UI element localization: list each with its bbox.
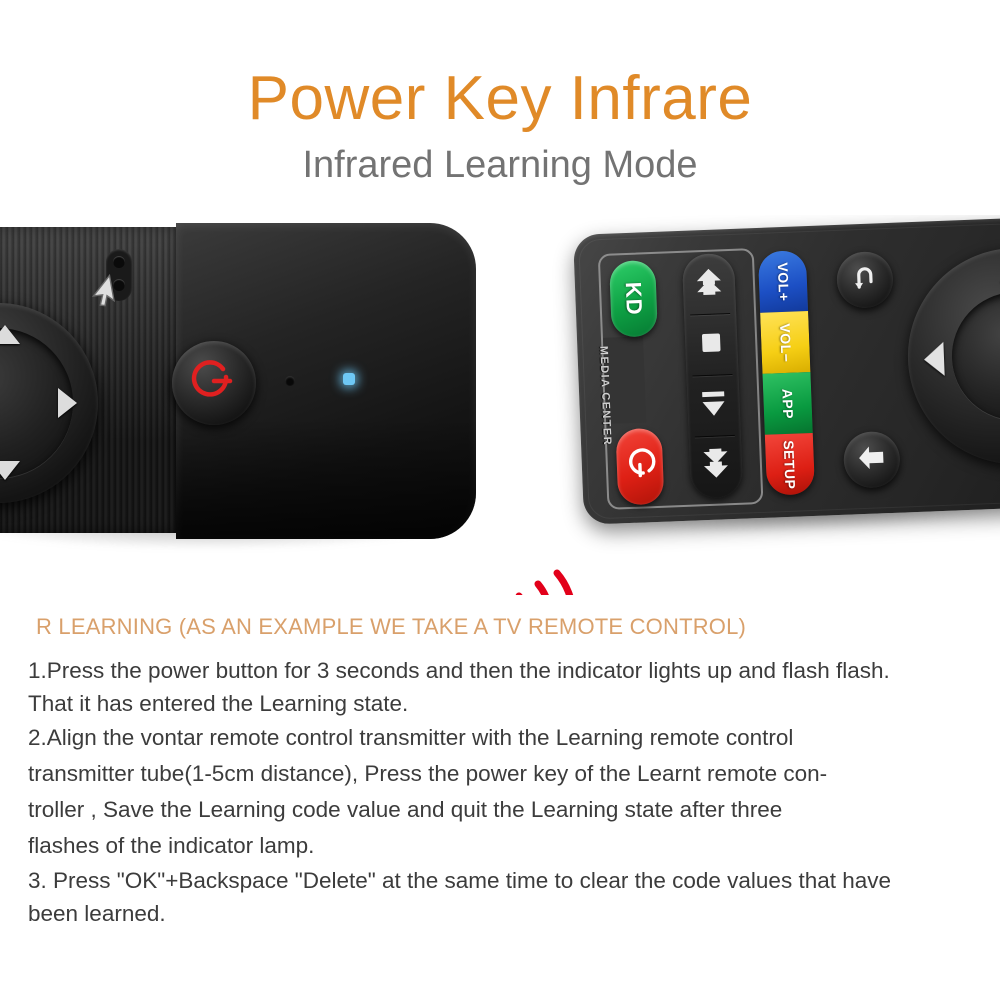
description-line: 2.Align the vontar remote control transm… bbox=[28, 720, 978, 756]
color-button-column: VOL+ VOL− APP SETUP bbox=[758, 250, 815, 496]
volume-up-label: VOL+ bbox=[774, 262, 791, 302]
tv-remote-ok-label: OK bbox=[950, 290, 1000, 423]
app-button[interactable]: APP bbox=[762, 372, 812, 435]
rewind-button[interactable] bbox=[689, 436, 743, 499]
mouse-cursor-icon bbox=[85, 271, 125, 316]
play-pause-button[interactable] bbox=[687, 375, 741, 438]
description-body: 1.Press the power button for 3 seconds a… bbox=[28, 654, 978, 930]
tv-remote-device: MEDIA CENTER KD bbox=[573, 217, 1000, 565]
setup-label: SETUP bbox=[781, 439, 799, 489]
fast-forward-button[interactable] bbox=[682, 253, 736, 316]
air-mouse-up-arrow-icon[interactable] bbox=[0, 325, 20, 344]
volume-up-button[interactable]: VOL+ bbox=[758, 250, 808, 313]
back-arrow-icon bbox=[855, 443, 888, 477]
ir-sensor-hole bbox=[285, 376, 295, 386]
tv-remote-power-button[interactable] bbox=[615, 428, 664, 506]
backspace-delete-button[interactable] bbox=[843, 431, 901, 489]
infrared-wave bbox=[505, 560, 585, 595]
page-header: Power Key Infrare Infrared Learning Mode bbox=[0, 0, 1000, 215]
page-subtitle: Infrared Learning Mode bbox=[302, 146, 697, 184]
volume-down-label: VOL− bbox=[777, 323, 794, 363]
description-line: troller , Save the Learning code value a… bbox=[28, 792, 978, 828]
kodi-button[interactable]: KD bbox=[609, 260, 658, 338]
kodi-button-label: KD bbox=[620, 281, 647, 316]
setup-button[interactable]: SETUP bbox=[765, 433, 815, 496]
play-pause-icon bbox=[698, 387, 729, 425]
description-line: 1.Press the power button for 3 seconds a… bbox=[28, 654, 978, 687]
double-up-arrow-icon bbox=[693, 265, 724, 303]
playback-button-column bbox=[682, 253, 743, 499]
description-heading: R LEARNING (AS AN EXAMPLE WE TAKE A TV R… bbox=[36, 614, 746, 640]
air-mouse-down-arrow-icon[interactable] bbox=[0, 461, 20, 480]
description-line: 3. Press "OK"+Backspace "Delete" at the … bbox=[28, 864, 978, 897]
app-label: APP bbox=[779, 388, 796, 419]
tv-remote-dpad[interactable]: OK bbox=[904, 237, 1000, 484]
air-mouse-power-button[interactable] bbox=[172, 341, 256, 425]
square-icon bbox=[700, 331, 723, 359]
description-line: That it has entered the Learning state. bbox=[28, 687, 978, 720]
product-photo-area: OK bbox=[0, 215, 1000, 595]
power-icon bbox=[622, 446, 657, 486]
tv-remote-left-arrow-icon[interactable] bbox=[923, 342, 944, 377]
stop-button[interactable] bbox=[684, 314, 738, 377]
u-turn-arrow-icon bbox=[849, 262, 880, 298]
double-down-arrow-icon bbox=[700, 448, 731, 486]
tv-remote-body: MEDIA CENTER KD bbox=[573, 217, 1000, 525]
volume-down-button[interactable]: VOL− bbox=[760, 311, 810, 374]
description-line: flashes of the indicator lamp. bbox=[28, 828, 978, 864]
power-icon bbox=[190, 357, 238, 410]
air-mouse-device: OK bbox=[0, 223, 480, 543]
description-line: been learned. bbox=[28, 897, 978, 930]
blue-led-indicator bbox=[343, 373, 355, 385]
air-mouse-right-arrow-icon[interactable] bbox=[58, 388, 77, 418]
return-button[interactable] bbox=[836, 251, 894, 309]
page-title: Power Key Infrare bbox=[248, 68, 753, 130]
description-line: transmitter tube(1-5cm distance), Press … bbox=[28, 756, 978, 792]
